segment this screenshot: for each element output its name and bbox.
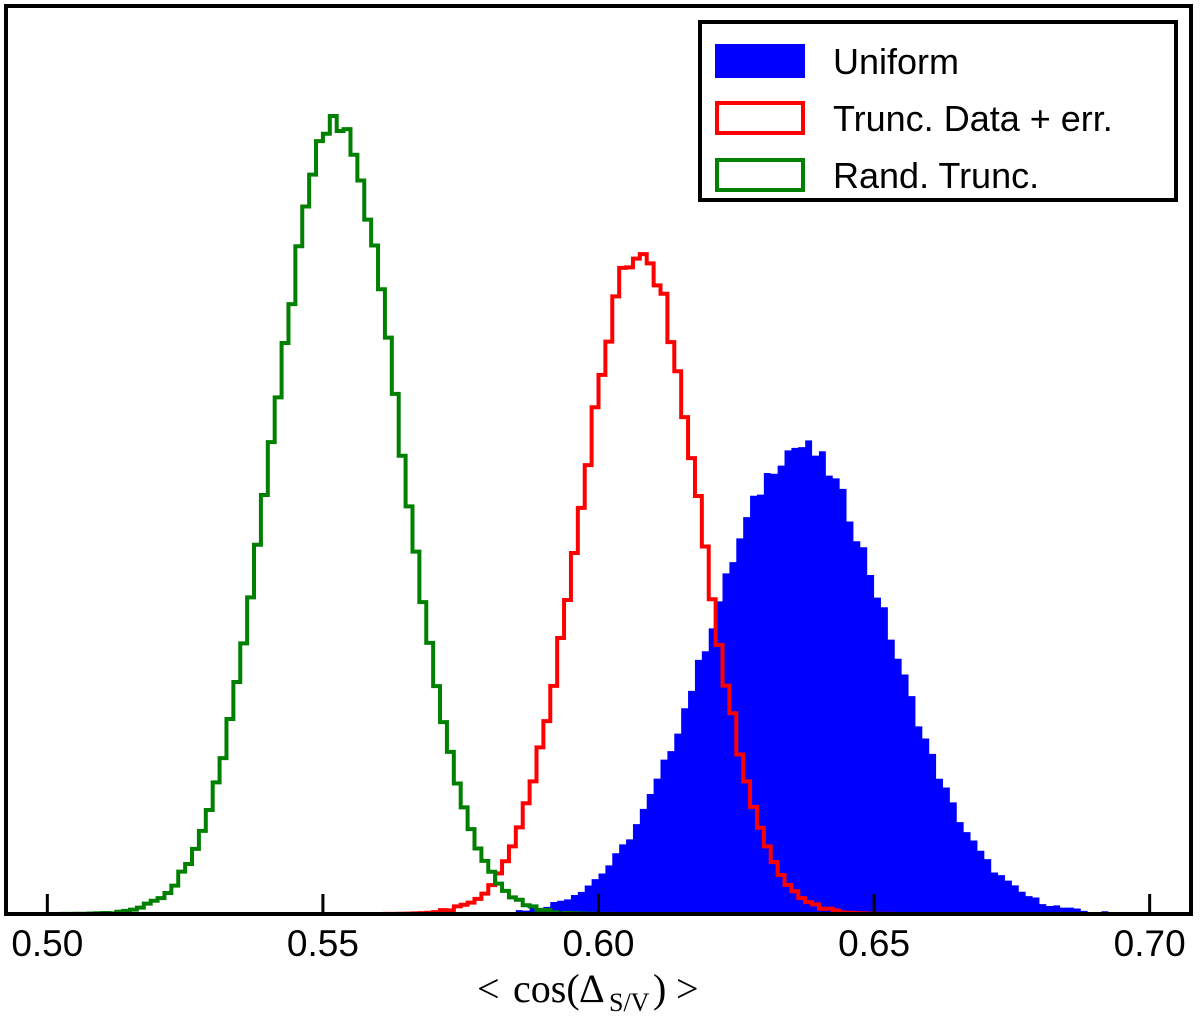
- legend-swatch-step: [717, 160, 803, 190]
- histogram-2-step: [6, 254, 1191, 914]
- x-tick-label: 0.55: [287, 923, 359, 964]
- x-axis-label: <cos(ΔS/V)>: [477, 966, 699, 1017]
- plot-canvas: 0.500.550.600.650.70 <cos(ΔS/V)> Uniform…: [0, 0, 1200, 1030]
- x-tick-label: 0.50: [11, 923, 83, 964]
- xlabel-cos: cos(: [513, 966, 580, 1011]
- series-layer: [6, 116, 1191, 914]
- legend-label: Rand. Trunc.: [833, 155, 1039, 196]
- legend-swatch-filled: [715, 44, 805, 78]
- histogram-3-step: [6, 116, 1191, 914]
- x-tick-label: 0.60: [562, 923, 634, 964]
- legend-entry-3[interactable]: Rand. Trunc.: [717, 155, 1039, 196]
- legend-entry-1[interactable]: Uniform: [715, 41, 959, 82]
- legend-label: Trunc. Data + err.: [833, 98, 1113, 139]
- xlabel-close-paren: ): [653, 966, 666, 1011]
- histogram-figure: 0.500.550.600.650.70 <cos(ΔS/V)> Uniform…: [0, 0, 1200, 1030]
- legend-entry-2[interactable]: Trunc. Data + err.: [717, 98, 1113, 139]
- x-tick-label: 0.70: [1114, 923, 1186, 964]
- x-axis-label-group: <cos(ΔS/V)>: [477, 966, 699, 1017]
- histogram-1-fill: [6, 440, 1191, 914]
- x-tick-label: 0.65: [838, 923, 910, 964]
- xlabel-open-angle: <: [477, 966, 500, 1011]
- legend-swatch-step: [717, 103, 803, 133]
- xlabel-close-angle: >: [676, 966, 699, 1011]
- xlabel-delta: Δ: [579, 966, 605, 1011]
- legend-label: Uniform: [833, 41, 959, 82]
- legend: UniformTrunc. Data + err.Rand. Trunc.: [700, 22, 1176, 200]
- xlabel-subscript: S/V: [609, 988, 650, 1017]
